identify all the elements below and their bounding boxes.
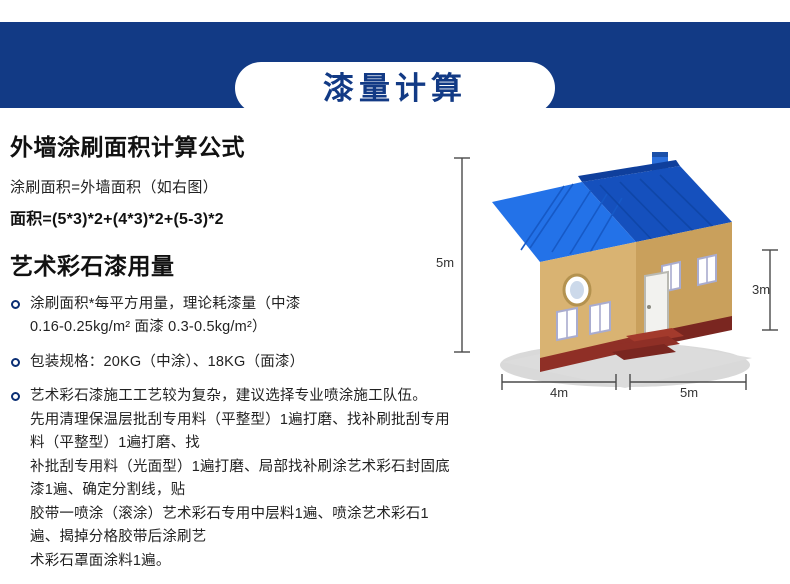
bullet-dot-icon bbox=[11, 358, 20, 367]
bullet-list: 涂刷面积*每平方用量，理论耗漆量（中漆 0.16-0.25kg/m² 面漆 0.… bbox=[10, 293, 450, 573]
dimension-label-front-width: 4m bbox=[550, 385, 568, 400]
formula-expression: 面积=(5*3)*2+(4*3)*2+(5-3)*2 bbox=[10, 205, 450, 229]
title-pill: 漆量计算 bbox=[235, 62, 555, 114]
window-side-right bbox=[698, 255, 716, 285]
door-knob bbox=[647, 305, 651, 309]
bullet-line: 艺术彩石漆施工工艺较为复杂，建议选择专业喷涂施工队伍。 bbox=[30, 385, 450, 408]
content-column: 外墙涂刷面积计算公式 涂刷面积=外墙面积（如右图） 面积=(5*3)*2+(4*… bbox=[10, 128, 450, 584]
round-window-glass bbox=[570, 281, 584, 299]
bullet-line: 胶带一喷涂（滚涂）艺术彩石专用中层料1遍、喷涂艺术彩石1遍、揭掉分格胶带后涂刷艺 bbox=[30, 503, 450, 550]
formula-heading: 外墙涂刷面积计算公式 bbox=[10, 128, 450, 162]
dimension-label-left-height: 5m bbox=[436, 255, 454, 270]
bullet-dot-icon bbox=[11, 392, 20, 401]
formula-description: 涂刷面积=外墙面积（如右图） bbox=[10, 176, 450, 197]
page-root: 漆量计算 外墙涂刷面积计算公式 涂刷面积=外墙面积（如右图） 面积=(5*3)*… bbox=[0, 0, 790, 575]
bullet-line: 0.16-0.25kg/m² 面漆 0.3-0.5kg/m²） bbox=[30, 316, 450, 339]
chimney-cap bbox=[652, 152, 668, 157]
house-svg bbox=[440, 130, 790, 420]
dimension-label-right-height: 3m bbox=[752, 282, 770, 297]
list-item: 涂刷面积*每平方用量，理论耗漆量（中漆 0.16-0.25kg/m² 面漆 0.… bbox=[10, 293, 450, 340]
dimension-label-side-width: 5m bbox=[680, 385, 698, 400]
bullet-line: 术彩石罩面涂料1遍。 bbox=[30, 550, 450, 573]
front-door bbox=[645, 272, 668, 337]
bullet-line: 涂刷面积*每平方用量，理论耗漆量（中漆 bbox=[30, 293, 450, 316]
house-illustration: 5m 3m 4m 5m bbox=[440, 130, 790, 420]
bullet-line: 先用清理保温层批刮专用料（平整型）1遍打磨、找补刷批刮专用料（平整型）1遍打磨、… bbox=[30, 409, 450, 456]
bullet-line: 包装规格：20KG（中涂）、18KG（面漆） bbox=[30, 351, 450, 374]
window-front-left bbox=[557, 308, 577, 340]
list-item: 艺术彩石漆施工工艺较为复杂，建议选择专业喷涂施工队伍。 先用清理保温层批刮专用料… bbox=[10, 385, 450, 573]
list-item: 包装规格：20KG（中涂）、18KG（面漆） bbox=[10, 351, 450, 374]
page-title: 漆量计算 bbox=[323, 73, 467, 104]
header-banner: 漆量计算 bbox=[0, 22, 790, 108]
dimension-left-height bbox=[454, 158, 470, 352]
bullet-line: 补批刮专用料（光面型）1遍打磨、局部找补刷涂艺术彩石封固底漆1遍、确定分割线，贴 bbox=[30, 456, 450, 503]
usage-heading: 艺术彩石漆用量 bbox=[10, 247, 450, 281]
bullet-dot-icon bbox=[11, 300, 20, 309]
window-front-right bbox=[590, 302, 610, 334]
